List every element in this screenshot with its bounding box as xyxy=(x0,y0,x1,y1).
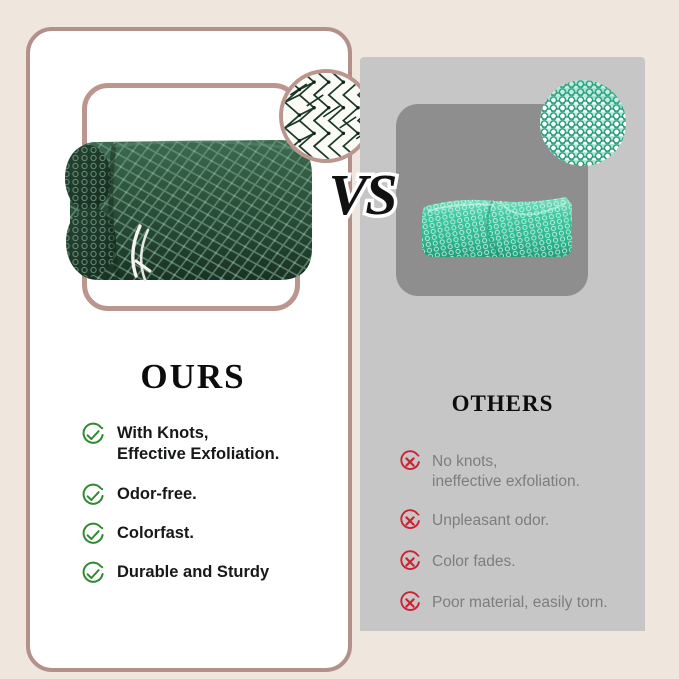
check-circle-icon xyxy=(80,422,106,448)
honeycomb-mesh-pattern-icon xyxy=(540,80,626,166)
others-panel: OTHERS No knots, ineffective exfoliation… xyxy=(360,57,645,631)
list-item: Odor-free. xyxy=(80,483,350,509)
check-circle-icon xyxy=(80,483,106,509)
others-drawback-list: No knots, ineffective exfoliation. Unple… xyxy=(398,450,648,632)
list-item: Unpleasant odor. xyxy=(398,509,648,533)
list-item-label: Odor-free. xyxy=(117,483,197,505)
list-item: With Knots, Effective Exfoliation. xyxy=(80,422,350,465)
cross-circle-icon xyxy=(398,450,422,474)
list-item-label: With Knots, Effective Exfoliation. xyxy=(117,422,279,465)
list-item: Durable and Sturdy xyxy=(80,561,350,587)
list-item-label: Durable and Sturdy xyxy=(117,561,269,583)
ours-closeup-inset xyxy=(279,69,373,163)
vs-badge: VS xyxy=(307,158,417,230)
check-circle-icon xyxy=(80,561,106,587)
others-product-image xyxy=(414,183,579,263)
list-item-label: Unpleasant odor. xyxy=(432,509,549,531)
list-item: Color fades. xyxy=(398,550,648,574)
list-item: No knots, ineffective exfoliation. xyxy=(398,450,648,492)
list-item: Colorfast. xyxy=(80,522,350,548)
list-item: Poor material, easily torn. xyxy=(398,591,648,615)
list-item-label: Poor material, easily torn. xyxy=(432,591,608,613)
check-circle-icon xyxy=(80,522,106,548)
list-item-label: Colorfast. xyxy=(117,522,194,544)
knotted-net-pattern-icon xyxy=(283,73,369,159)
comparison-infographic: OURS With Knots, Effective Exfoliation. xyxy=(0,0,679,679)
others-closeup-inset xyxy=(540,80,626,166)
others-heading: OTHERS xyxy=(360,391,645,417)
ours-product-image xyxy=(44,130,319,290)
list-item-label: No knots, ineffective exfoliation. xyxy=(432,450,580,492)
cross-circle-icon xyxy=(398,550,422,574)
cross-circle-icon xyxy=(398,509,422,533)
ours-panel: OURS With Knots, Effective Exfoliation. xyxy=(26,27,352,672)
cross-circle-icon xyxy=(398,591,422,615)
ours-heading: OURS xyxy=(30,357,356,397)
list-item-label: Color fades. xyxy=(432,550,516,572)
ours-feature-list: With Knots, Effective Exfoliation. Odor-… xyxy=(80,422,350,600)
